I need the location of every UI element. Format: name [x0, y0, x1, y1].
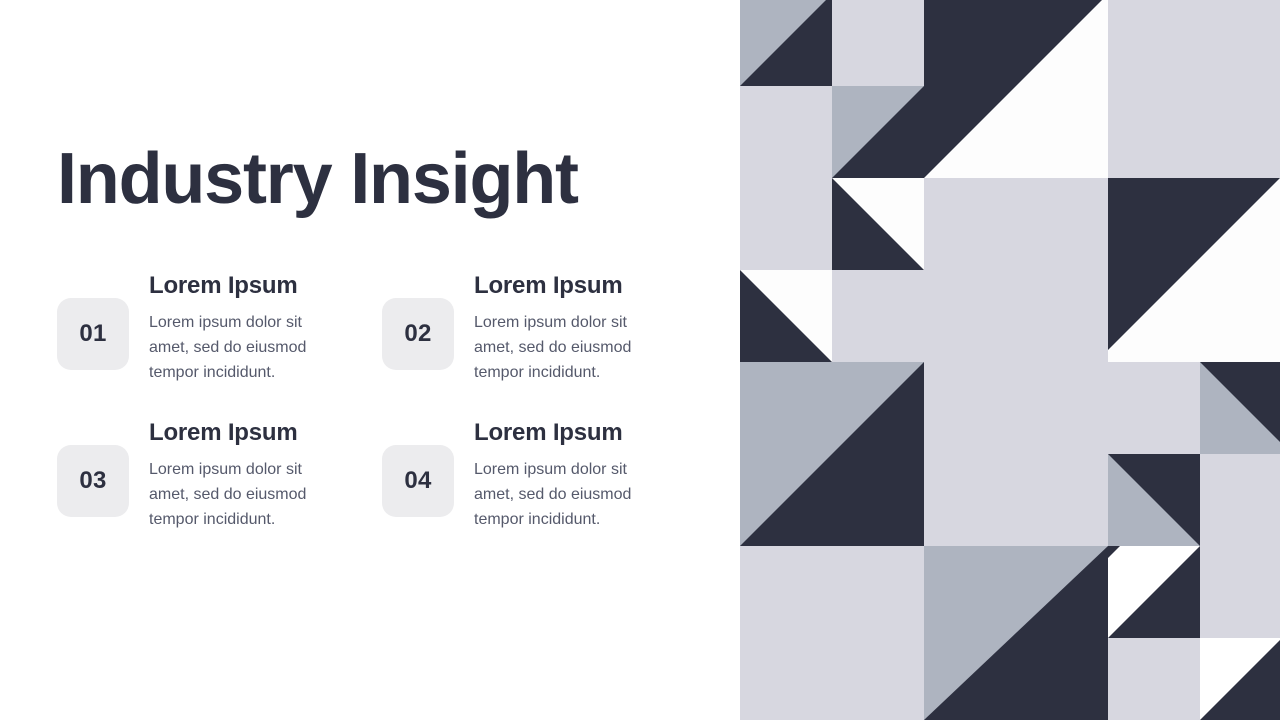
- feature-number-badge: 02: [382, 298, 454, 370]
- feature-text-block: Lorem Ipsum Lorem ipsum dolor sit amet, …: [474, 268, 707, 385]
- feature-heading: Lorem Ipsum: [474, 419, 707, 447]
- feature-item-01[interactable]: 01 Lorem Ipsum Lorem ipsum dolor sit ame…: [57, 268, 382, 385]
- feature-body: Lorem ipsum dolor sit amet, sed do eiusm…: [474, 310, 669, 385]
- feature-body: Lorem ipsum dolor sit amet, sed do eiusm…: [474, 457, 669, 532]
- page-title: Industry Insight: [57, 136, 578, 222]
- feature-item-02[interactable]: 02 Lorem Ipsum Lorem ipsum dolor sit ame…: [382, 268, 707, 385]
- feature-text-block: Lorem Ipsum Lorem ipsum dolor sit amet, …: [149, 268, 382, 385]
- feature-body: Lorem ipsum dolor sit amet, sed do eiusm…: [149, 457, 344, 532]
- feature-text-block: Lorem Ipsum Lorem ipsum dolor sit amet, …: [474, 415, 707, 532]
- feature-list: 01 Lorem Ipsum Lorem ipsum dolor sit ame…: [57, 268, 717, 532]
- geometric-pattern-panel: [740, 0, 1280, 720]
- feature-number-badge: 01: [57, 298, 129, 370]
- feature-number-badge: 03: [57, 445, 129, 517]
- feature-heading: Lorem Ipsum: [474, 272, 707, 300]
- feature-body: Lorem ipsum dolor sit amet, sed do eiusm…: [149, 310, 344, 385]
- feature-item-03[interactable]: 03 Lorem Ipsum Lorem ipsum dolor sit ame…: [57, 415, 382, 532]
- feature-item-04[interactable]: 04 Lorem Ipsum Lorem ipsum dolor sit ame…: [382, 415, 707, 532]
- feature-heading: Lorem Ipsum: [149, 419, 382, 447]
- feature-number-badge: 04: [382, 445, 454, 517]
- slide-root: Industry Insight 01 Lorem Ipsum Lorem ip…: [0, 0, 1280, 720]
- content-panel: Industry Insight 01 Lorem Ipsum Lorem ip…: [0, 0, 740, 720]
- feature-heading: Lorem Ipsum: [149, 272, 382, 300]
- feature-text-block: Lorem Ipsum Lorem ipsum dolor sit amet, …: [149, 415, 382, 532]
- geometric-triangle-mosaic-icon: [740, 0, 1280, 720]
